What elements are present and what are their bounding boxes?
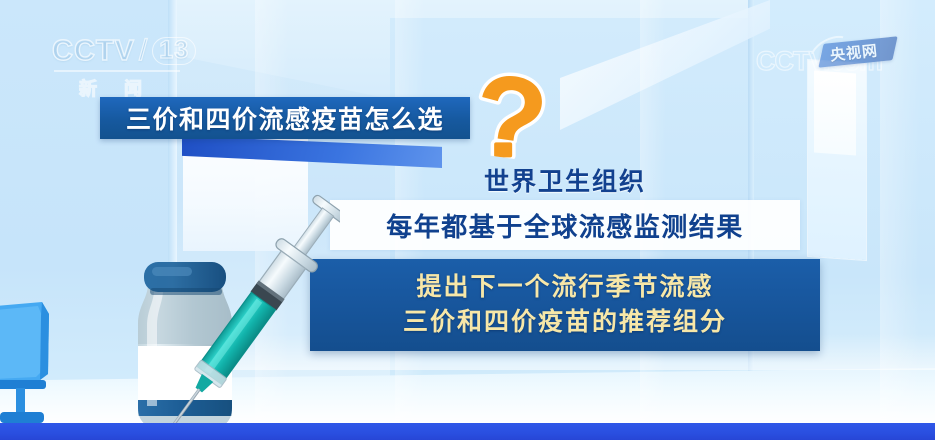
cctv-slash: /	[139, 36, 148, 66]
blue-statement-box: 提出下一个流行季节流感 三价和四价疫苗的推荐组分	[310, 259, 820, 351]
cctv13-logo: CCTV / 13 新 闻	[52, 36, 202, 98]
blue-statement-line2: 三价和四价疫苗的推荐组分	[403, 305, 727, 341]
door-window	[814, 71, 856, 156]
office-chair-icon	[0, 300, 60, 428]
blue-statement-line1: 提出下一个流行季节流感	[416, 270, 713, 306]
bottom-color-bar	[0, 423, 935, 440]
headline-banner: 三价和四价流感疫苗怎么选	[100, 97, 470, 139]
who-organization-line: 世界卫生组织	[330, 162, 800, 198]
who-organization-text: 世界卫生组织	[484, 162, 646, 198]
question-mark-icon	[464, 67, 555, 163]
cctv-channel-number: 13	[152, 37, 196, 65]
cctv-underline	[54, 70, 180, 72]
broadcast-screen: CCTV / 13 新 闻 CCTV.com 央视网 三价和四价流感疫苗怎么选 …	[0, 0, 935, 440]
cctv-com-watermark: CCTV.com 央视网	[756, 38, 928, 78]
white-statement-banner: 每年都基于全球流感监测结果	[330, 200, 800, 250]
white-statement-text: 每年都基于全球流感监测结果	[386, 207, 744, 244]
headline-text: 三价和四价流感疫苗怎么选	[126, 100, 444, 136]
cctv13-logo-main: CCTV / 13	[52, 36, 202, 66]
cctv-wordmark: CCTV	[52, 37, 135, 66]
syringe-icon	[170, 186, 340, 436]
